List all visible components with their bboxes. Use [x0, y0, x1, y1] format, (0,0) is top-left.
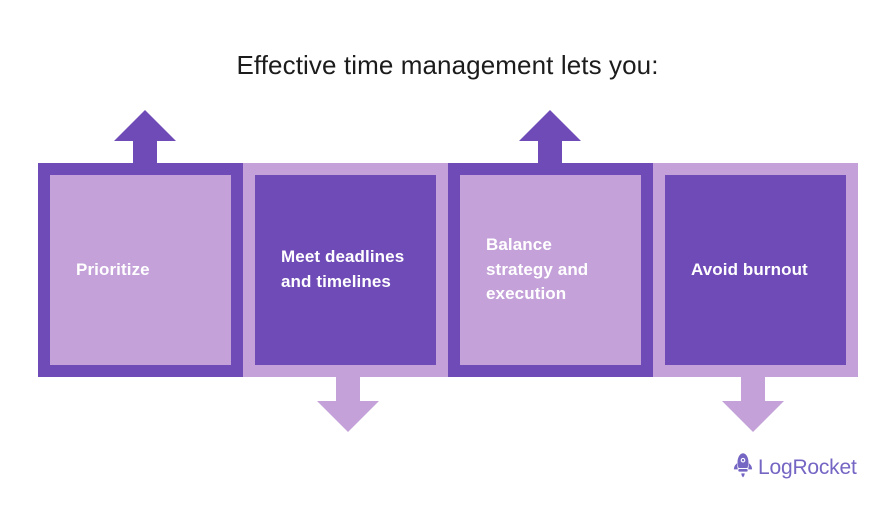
- rocket-icon: [731, 452, 755, 483]
- cards-row: Prioritize Meet deadlines and timelines …: [38, 163, 858, 377]
- arrow-down-icon-2: [722, 376, 784, 432]
- card-label: Meet deadlines and timelines: [281, 245, 404, 294]
- card-label: Prioritize: [76, 258, 150, 283]
- card-avoid-burnout[interactable]: Avoid burnout: [653, 163, 858, 377]
- logrocket-wordmark: LogRocket: [758, 457, 857, 478]
- arrow-up-icon-2: [519, 110, 581, 166]
- logrocket-logo: LogRocket: [731, 452, 857, 483]
- card-balance-strategy[interactable]: Balance strategy and execution: [448, 163, 653, 377]
- card-label: Balance strategy and execution: [486, 233, 588, 307]
- page-title: Effective time management lets you:: [0, 50, 895, 81]
- card-inner: Balance strategy and execution: [460, 175, 641, 365]
- card-inner: Meet deadlines and timelines: [255, 175, 436, 365]
- infographic-canvas: Effective time management lets you: Prio…: [0, 0, 895, 514]
- card-prioritize[interactable]: Prioritize: [38, 163, 243, 377]
- card-meet-deadlines[interactable]: Meet deadlines and timelines: [243, 163, 448, 377]
- arrow-down-icon-1: [317, 376, 379, 432]
- card-inner: Avoid burnout: [665, 175, 846, 365]
- card-label: Avoid burnout: [691, 258, 808, 283]
- card-inner: Prioritize: [50, 175, 231, 365]
- arrow-up-icon-1: [114, 110, 176, 166]
